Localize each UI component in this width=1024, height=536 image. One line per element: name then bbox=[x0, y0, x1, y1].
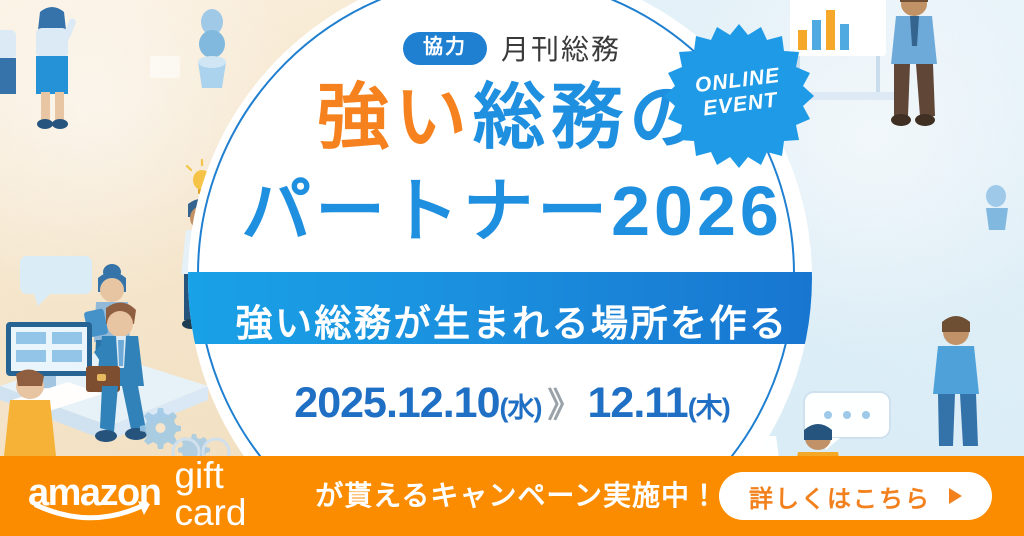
details-button-label: 詳しくはこちら bbox=[749, 479, 931, 514]
campaign-text: が貰えるキャンペーン実施中！ bbox=[315, 482, 719, 510]
subtitle-band-text: 強い総務が生まれる場所を作る bbox=[0, 293, 1024, 347]
headline-line-2: パートナー2026 bbox=[0, 176, 1024, 246]
event-dates: 2025.12.10(水)》12.11(木) bbox=[0, 378, 1024, 428]
partner-name: 月刊総務 bbox=[501, 28, 621, 68]
start-weekday: (水) bbox=[500, 393, 542, 423]
end-date: 12.11 bbox=[587, 379, 687, 427]
event-banner: 強い総務が生まれる場所を作る 協力 月刊総務 強い総務の パートナー2026 O… bbox=[0, 0, 1024, 536]
partner-row: 協力 月刊総務 bbox=[0, 28, 1024, 68]
date-range-arrow-icon: 》 bbox=[547, 387, 581, 425]
details-button[interactable]: 詳しくはこちら bbox=[719, 472, 992, 520]
amazon-smile-icon bbox=[34, 499, 152, 521]
headline-strong-orange: 強い bbox=[317, 78, 473, 158]
campaign-bar: amazon gift card が貰えるキャンペーン実施中！ 詳しくはこちら bbox=[0, 456, 1024, 536]
online-event-starburst: ONLINE EVENT bbox=[664, 22, 814, 172]
start-date: 2025.12.10 bbox=[294, 379, 499, 427]
partner-badge: 協力 bbox=[403, 32, 487, 65]
gift-card-text: gift card bbox=[174, 457, 299, 535]
caret-right-icon bbox=[949, 488, 962, 504]
end-weekday: (木) bbox=[688, 393, 730, 423]
amazon-wordmark: amazon bbox=[28, 474, 160, 518]
headline-line-1: 強い総務の bbox=[0, 82, 1024, 154]
